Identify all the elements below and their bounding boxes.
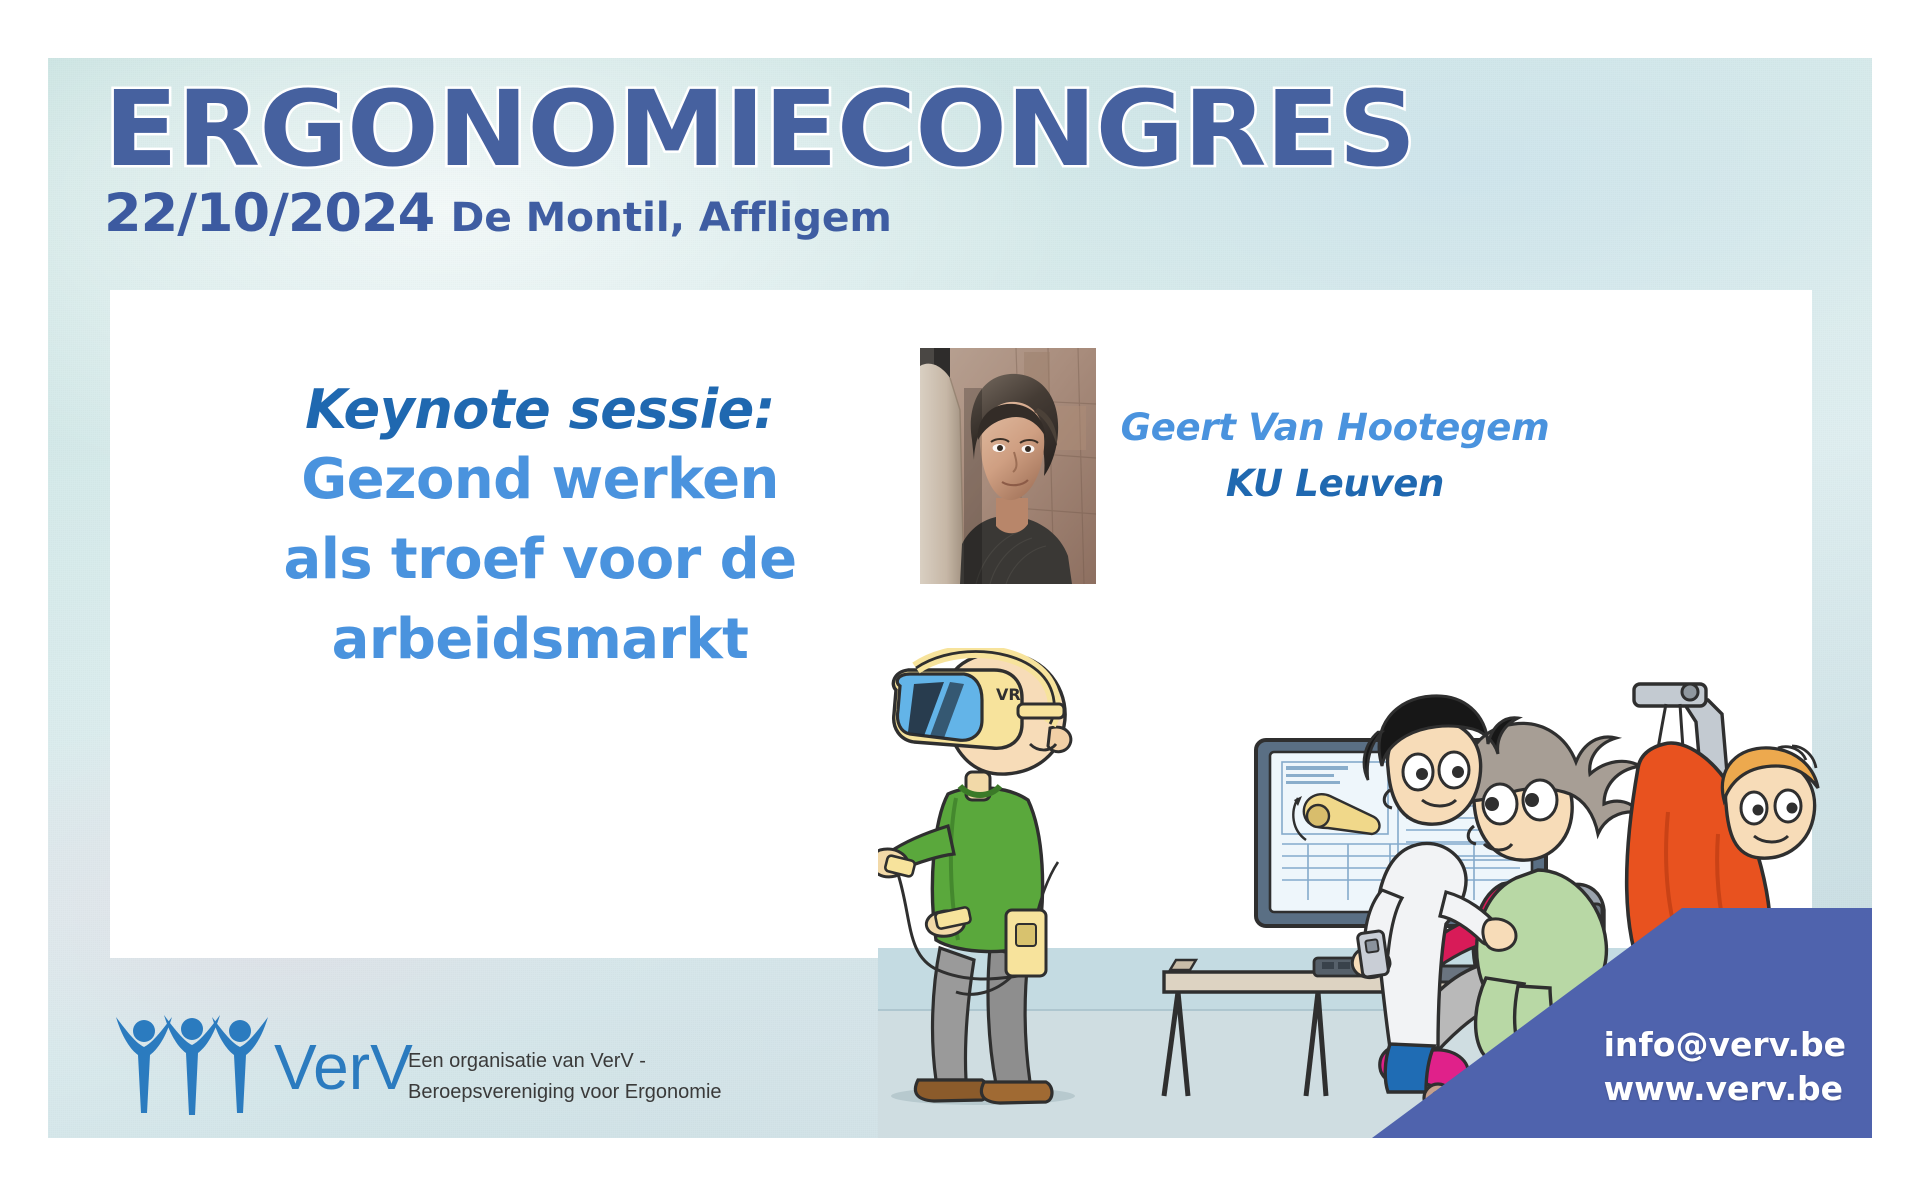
- event-venue: De Montil, Affligem: [451, 195, 892, 241]
- slide-header: ERGONOMIECONGRES 22/10/2024De Montil, Af…: [104, 80, 1365, 244]
- verv-wordmark: VerV: [274, 1031, 413, 1103]
- content-panel: Keynote sessie: Gezond werken als troef …: [110, 290, 1812, 958]
- keynote-label: Keynote sessie:: [240, 380, 840, 440]
- presentation-slide: ERGONOMIECONGRES 22/10/2024De Montil, Af…: [48, 58, 1872, 1138]
- speaker-affiliation: KU Leuven: [1120, 456, 1550, 512]
- speaker-name: Geert Van Hootegem: [1120, 400, 1550, 456]
- keynote-block: Keynote sessie: Gezond werken als troef …: [240, 380, 840, 679]
- speaker-portrait: [920, 348, 1096, 584]
- footer-caption: Een organisatie van VerV - Beroepsvereni…: [408, 1046, 722, 1108]
- event-date: 22/10/2024: [104, 183, 434, 244]
- keynote-title-line-2: als troef voor de: [240, 520, 840, 600]
- contact-website[interactable]: www.verv.be: [1604, 1067, 1846, 1112]
- keynote-title-line-1: Gezond werken: [240, 440, 840, 520]
- portrait-photo: [920, 348, 1096, 584]
- keynote-title-line-3: arbeidsmarkt: [240, 600, 840, 680]
- page-title: ERGONOMIECONGRES: [104, 80, 1415, 179]
- footer-caption-line-1: Een organisatie van VerV -: [408, 1046, 722, 1077]
- contact-details: info@verv.be www.verv.be: [1604, 1023, 1846, 1112]
- verv-people-mark: [116, 1015, 268, 1115]
- event-date-venue: 22/10/2024De Montil, Affligem: [104, 183, 1390, 244]
- contact-email[interactable]: info@verv.be: [1604, 1023, 1846, 1068]
- speaker-block: Geert Van Hootegem KU Leuven: [1120, 400, 1550, 511]
- verv-logo: VerV: [114, 1013, 414, 1123]
- contact-banner: info@verv.be www.verv.be: [1372, 908, 1872, 1138]
- footer-caption-line-2: Beroepsvereniging voor Ergonomie: [408, 1077, 722, 1108]
